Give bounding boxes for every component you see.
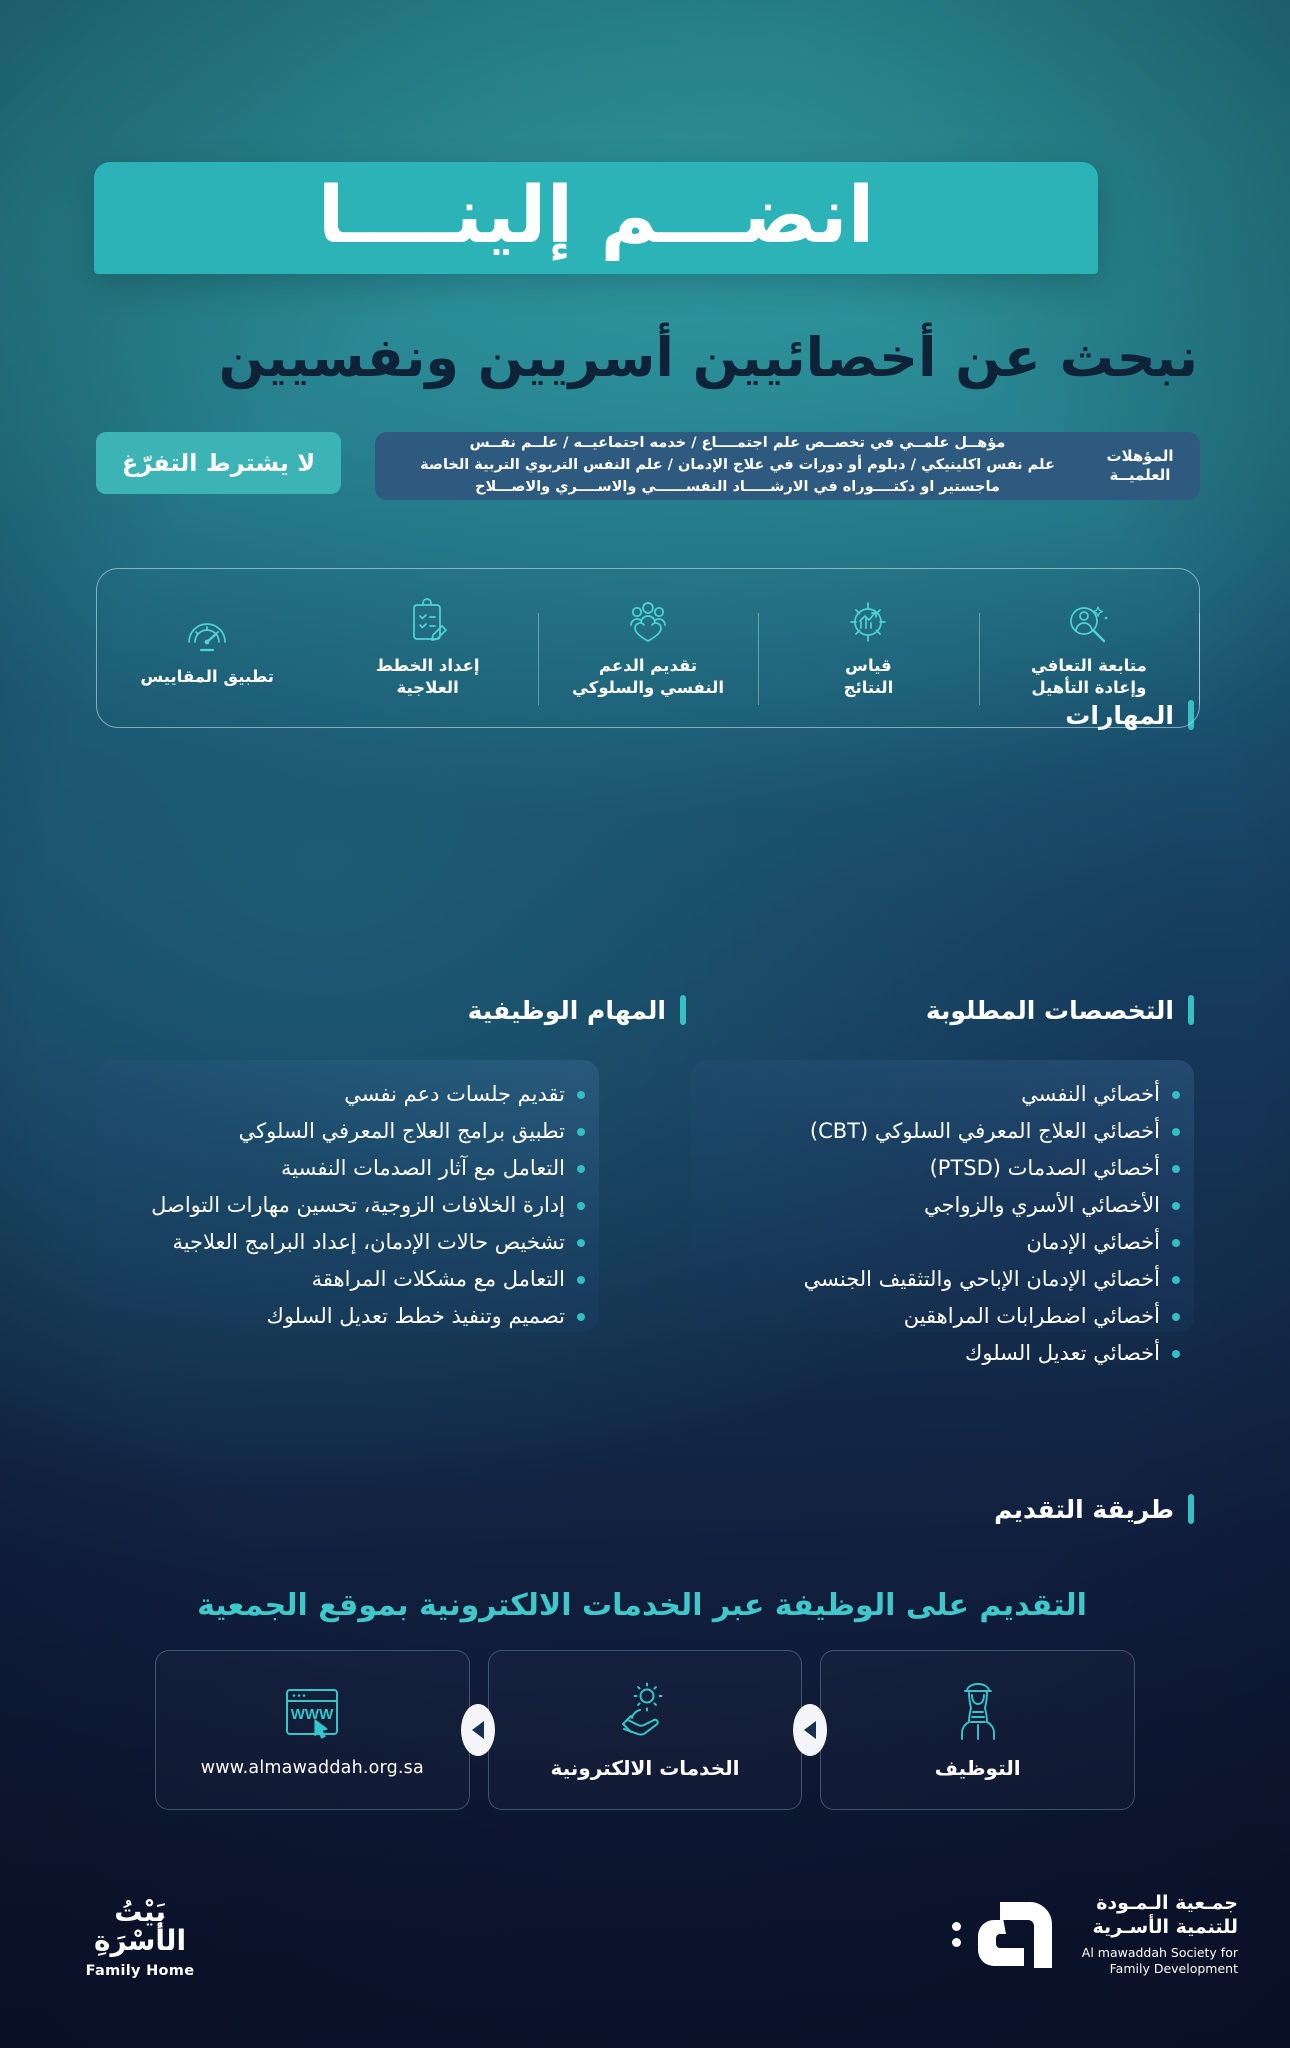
qualification-line: علم نفس اكلينيكي / دبلوم أو دورات في علا… — [389, 455, 1086, 477]
banner-title: انضـــم إلينــــا — [318, 177, 875, 255]
skill-item-recovery-followup: متابعة التعافي وإعادة التأهيل — [979, 597, 1199, 699]
person-thobe-icon — [949, 1680, 1007, 1742]
almawaddah-name-line1: جمـعية الـمـودة — [1096, 1892, 1238, 1914]
specializations-section-heading: التخصصات المطلوبة — [926, 995, 1194, 1025]
bullet-icon — [577, 1202, 585, 1210]
svg-text:WWW: WWW — [291, 1706, 334, 1723]
specializations-card: أخصائي النفسي أخصائي العلاج المعرفي السل… — [691, 1060, 1194, 1332]
gauge-meter-icon — [183, 608, 231, 656]
join-us-banner: انضـــم إلينــــا — [94, 162, 1098, 274]
academic-qualifications-box: المؤهلاتالعلميــة مؤهــل علمــي في تخصــ… — [375, 432, 1200, 500]
bullet-icon — [1172, 1165, 1180, 1173]
list-item: أخصائي النفسي — [705, 1076, 1180, 1113]
bullet-icon — [1172, 1276, 1180, 1284]
skill-item-apply-scales: تطبيق المقاييس — [97, 608, 317, 688]
bullet-icon — [577, 1239, 585, 1247]
list-item: تشخيص حالات الإدمان، إعداد البرامج العلا… — [110, 1224, 585, 1261]
list-item: التعامل مع آثار الصدمات النفسية — [110, 1150, 585, 1187]
no-fulltime-badge-label: لا يشترط التفرّغ — [122, 449, 315, 477]
bullet-icon — [577, 1165, 585, 1173]
specializations-section-title: التخصصات المطلوبة — [926, 996, 1174, 1025]
list-item: أخصائي العلاج المعرفي السلوكي (CBT) — [705, 1113, 1180, 1150]
list-item-label: تطبيق برامج العلاج المعرفي السلوكي — [110, 1121, 565, 1142]
bullet-icon — [1172, 1202, 1180, 1210]
skill-item-treatment-plans: إعداد الخطط العلاجية — [317, 597, 537, 699]
list-item: أخصائي الإدمان الإباحي والتثقيف الجنسي — [705, 1261, 1180, 1298]
no-fulltime-badge: لا يشترط التفرّغ — [96, 432, 341, 494]
family-home-logo-english: Family Home — [52, 1963, 228, 1979]
almawaddah-dots-icon — [952, 1922, 961, 1947]
apply-instruction-text: التقديم على الوظيفة عبر الخدمات الالكترو… — [90, 1588, 1194, 1623]
apply-section-title: طريقة التقديم — [994, 1495, 1174, 1524]
family-home-logo-arabic: بَيْتُالأُسْرَةِ — [52, 1898, 228, 1955]
bullet-icon — [1172, 1091, 1180, 1099]
list-item-label: أخصائي العلاج المعرفي السلوكي (CBT) — [705, 1121, 1160, 1142]
skill-label: إعداد الخطط العلاجية — [376, 655, 480, 699]
step-card-recruitment[interactable]: التوظيف — [820, 1650, 1135, 1810]
apply-section-heading: طريقة التقديم — [994, 1494, 1194, 1524]
skill-label: تقديم الدعم النفسي والسلوكي — [572, 655, 724, 699]
list-item-label: الأخصائي الأسري والزواجي — [705, 1195, 1160, 1216]
tasks-section-heading: المهام الوظيفية — [468, 995, 686, 1025]
almawaddah-logomark — [952, 1898, 1066, 1972]
list-item-label: أخصائي النفسي — [705, 1084, 1160, 1105]
almawaddah-logo-text: جمـعية الـمـودة للتنمية الأسـرية Al mawa… — [1082, 1892, 1238, 1977]
almawaddah-name-en-line2: Family Development — [1110, 1961, 1238, 1976]
list-item: تطبيق برامج العلاج المعرفي السلوكي — [110, 1113, 585, 1150]
specializations-list: أخصائي النفسي أخصائي العلاج المعرفي السل… — [691, 1060, 1194, 1372]
browser-www-icon: WWW — [279, 1682, 345, 1744]
list-item: التعامل مع مشكلات المراهقة — [110, 1261, 585, 1298]
list-item-label: أخصائي الإدمان — [705, 1232, 1160, 1253]
almawaddah-mark-icon — [970, 1898, 1066, 1972]
step-label: الخدمات الالكترونية — [551, 1756, 740, 1780]
step-card-eservices[interactable]: الخدمات الالكترونية — [488, 1650, 803, 1810]
list-item-label: التعامل مع مشكلات المراهقة — [110, 1269, 565, 1290]
skills-panel: تطبيق المقاييس إعداد الخطط العلاجية — [96, 568, 1200, 728]
skill-item-psych-support: تقديم الدعم النفسي والسلوكي — [538, 597, 758, 699]
list-item: الأخصائي الأسري والزواجي — [705, 1187, 1180, 1224]
almawaddah-name-english: Al mawaddah Society for Family Developme… — [1082, 1945, 1238, 1978]
bullet-icon — [577, 1128, 585, 1136]
tasks-card: تقديم جلسات دعم نفسي تطبيق برامج العلاج … — [96, 1060, 599, 1332]
arrow-left-icon — [793, 1704, 827, 1756]
hands-people-icon — [623, 597, 673, 645]
academic-qualifications-lines: مؤهــل علمــي في تخصــص علم اجتمــــاع /… — [389, 433, 1092, 498]
qualification-line: مؤهــل علمــي في تخصــص علم اجتمــــاع /… — [389, 433, 1086, 455]
list-item: إدارة الخلافات الزوجية، تحسين مهارات الت… — [110, 1187, 585, 1224]
section-accent-bar — [1188, 995, 1194, 1025]
almawaddah-name-en-line1: Al mawaddah Society for — [1082, 1945, 1238, 1960]
bullet-icon — [1172, 1313, 1180, 1321]
skill-item-measure-results: قياس النتائج — [758, 597, 978, 699]
almawaddah-logo: جمـعية الـمـودة للتنمية الأسـرية Al mawa… — [952, 1892, 1238, 1977]
list-item: أخصائي الإدمان — [705, 1224, 1180, 1261]
page-title: نبحث عن أخصائيين أسريين ونفسيين — [92, 327, 1198, 389]
chart-gear-icon — [844, 597, 892, 645]
step-label: التوظيف — [935, 1756, 1021, 1780]
bullet-icon — [1172, 1239, 1180, 1247]
list-item: أخصائي تعديل السلوك — [705, 1335, 1180, 1372]
list-item-label: أخصائي الإدمان الإباحي والتثقيف الجنسي — [705, 1269, 1160, 1290]
skill-label: متابعة التعافي وإعادة التأهيل — [1031, 655, 1147, 699]
list-item-label: تشخيص حالات الإدمان، إعداد البرامج العلا… — [110, 1232, 565, 1253]
tasks-section-title: المهام الوظيفية — [468, 996, 666, 1025]
bullet-icon — [577, 1276, 585, 1284]
poster-background: انضـــم إلينــــا نبحث عن أخصائيين أسريي… — [0, 0, 1290, 2048]
magnifier-person-icon — [1064, 597, 1114, 645]
step-card-website[interactable]: WWW www.almawaddah.org.sa — [155, 1650, 470, 1810]
bullet-icon — [1172, 1128, 1180, 1136]
list-item-label: أخصائي الصدمات (PTSD) — [705, 1158, 1160, 1179]
list-item-label: تصميم وتنفيذ خطط تعديل السلوك — [110, 1306, 565, 1327]
list-item-label: إدارة الخلافات الزوجية، تحسين مهارات الت… — [110, 1195, 565, 1216]
list-item: أخصائي الصدمات (PTSD) — [705, 1150, 1180, 1187]
list-item: تصميم وتنفيذ خطط تعديل السلوك — [110, 1298, 585, 1335]
list-item-label: تقديم جلسات دعم نفسي — [110, 1084, 565, 1105]
almawaddah-name-line2: للتنمية الأسـرية — [1093, 1916, 1238, 1938]
step-label: www.almawaddah.org.sa — [201, 1758, 424, 1778]
arrow-left-icon — [461, 1704, 495, 1756]
apply-steps: WWW www.almawaddah.org.sa الخدمات الالكت… — [155, 1650, 1135, 1810]
list-item-label: أخصائي تعديل السلوك — [705, 1343, 1160, 1364]
list-item-label: أخصائي اضطرابات المراهقين — [705, 1306, 1160, 1327]
list-item: تقديم جلسات دعم نفسي — [110, 1076, 585, 1113]
skill-label: قياس النتائج — [844, 655, 894, 699]
section-accent-bar — [1188, 1494, 1194, 1524]
clipboard-check-icon — [406, 597, 450, 645]
skill-label: تطبيق المقاييس — [140, 666, 274, 688]
qualification-line: ماجستير او دكتــــوراه في الارشـــــاد ا… — [389, 477, 1086, 499]
bullet-icon — [577, 1091, 585, 1099]
list-item: أخصائي اضطرابات المراهقين — [705, 1298, 1180, 1335]
academic-qualifications-label: المؤهلاتالعلميــة — [1092, 447, 1188, 485]
bullet-icon — [1172, 1350, 1180, 1358]
list-item-label: التعامل مع آثار الصدمات النفسية — [110, 1158, 565, 1179]
bullet-icon — [577, 1313, 585, 1321]
family-home-logo: بَيْتُالأُسْرَةِ Family Home — [52, 1898, 228, 1979]
hand-gear-service-icon — [614, 1680, 676, 1742]
section-accent-bar — [680, 995, 686, 1025]
tasks-list: تقديم جلسات دعم نفسي تطبيق برامج العلاج … — [96, 1060, 599, 1335]
almawaddah-name-arabic: جمـعية الـمـودة للتنمية الأسـرية — [1082, 1892, 1238, 1940]
qualifications-row: لا يشترط التفرّغ المؤهلاتالعلميــة مؤهــ… — [96, 432, 1200, 500]
